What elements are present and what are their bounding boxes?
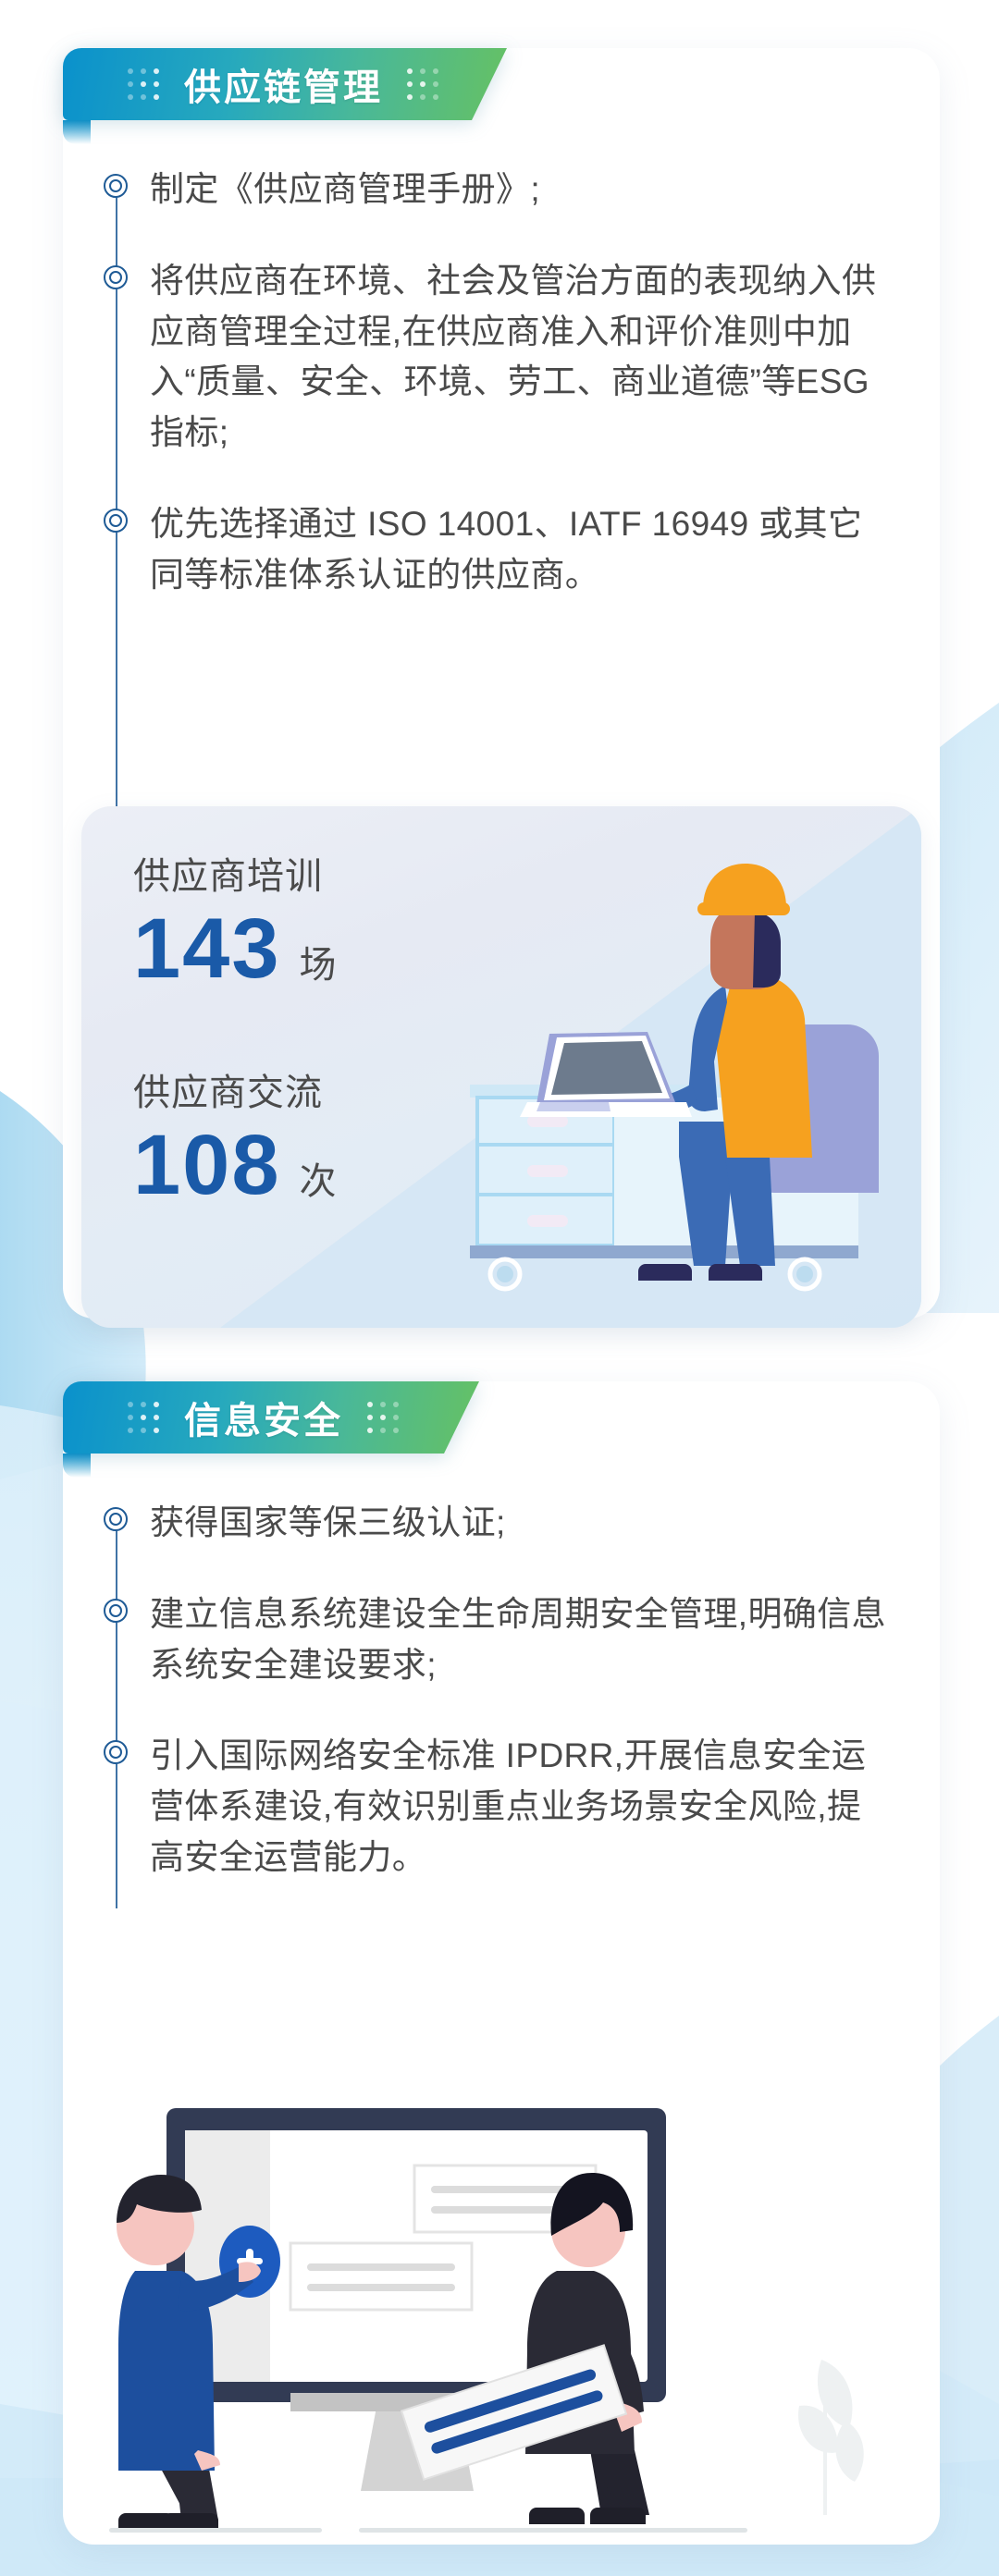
- dot-grid-icon-right: [407, 68, 439, 101]
- list-item: 将供应商在环境、社会及管治方面的表现纳入供应商管理全过程,在供应商准入和评价准则…: [104, 256, 890, 499]
- banner-tail-supply-chain: [63, 120, 91, 144]
- ring-bullet-icon: [104, 174, 129, 200]
- stat-supplier-training: 供应商培训 143 场: [133, 856, 337, 994]
- dot-grid-icon-right: [367, 1402, 400, 1434]
- dot-grid-icon-left: [128, 68, 160, 101]
- section-title-information-security: 信息安全: [184, 1391, 343, 1444]
- list-item-text: 引入国际网络安全标准 IPDRR,开展信息安全运营体系建设,有效识别重点业务场景…: [150, 1731, 890, 1883]
- list-item: 引入国际网络安全标准 IPDRR,开展信息安全运营体系建设,有效识别重点业务场景…: [104, 1731, 890, 1883]
- list-item: 优先选择通过 ISO 14001、IATF 16949 或其它同等标准体系认证的…: [104, 499, 890, 601]
- ring-bullet-icon: [104, 509, 129, 534]
- dot-grid-icon-left: [128, 1402, 160, 1434]
- stat-label: 供应商培训: [133, 856, 337, 897]
- illustration-two-people-monitor: [109, 2101, 906, 2556]
- ring-bullet-icon: [104, 1740, 129, 1766]
- list-item: 获得国家等保三级认证;: [104, 1498, 890, 1589]
- illustration-worker-at-desk: [461, 860, 923, 1313]
- list-item: 建立信息系统建设全生命周期安全管理,明确信息系统安全建设要求;: [104, 1589, 890, 1732]
- ring-bullet-icon: [104, 265, 129, 291]
- section-title-supply-chain: 供应链管理: [184, 57, 383, 111]
- stat-value: 108: [133, 1121, 281, 1210]
- list-item-text: 建立信息系统建设全生命周期安全管理,明确信息系统安全建设要求;: [150, 1589, 890, 1691]
- list-item-text: 优先选择通过 ISO 14001、IATF 16949 或其它同等标准体系认证的…: [150, 499, 890, 601]
- stat-unit: 场: [300, 935, 337, 988]
- monitor-people-svg: [109, 2101, 906, 2556]
- list-item-text: 获得国家等保三级认证;: [150, 1498, 890, 1549]
- list-item-text: 制定《供应商管理手册》;: [150, 165, 890, 215]
- stat-value: 143: [133, 904, 281, 994]
- stat-unit: 次: [300, 1151, 337, 1205]
- section-banner-supply-chain: 供应链管理: [63, 48, 507, 120]
- stat-label: 供应商交流: [133, 1073, 337, 1113]
- list-item-text: 将供应商在环境、社会及管治方面的表现纳入供应商管理全过程,在供应商准入和评价准则…: [150, 256, 890, 459]
- ring-bullet-icon: [104, 1507, 129, 1533]
- bullet-list-information-security: 获得国家等保三级认证; 建立信息系统建设全生命周期安全管理,明确信息系统安全建设…: [104, 1498, 890, 1883]
- bullet-list-supply-chain: 制定《供应商管理手册》; 将供应商在环境、社会及管治方面的表现纳入供应商管理全过…: [104, 165, 890, 600]
- banner-tail-information-security: [63, 1454, 91, 1478]
- worker-desk-svg: [461, 860, 923, 1313]
- list-item: 制定《供应商管理手册》;: [104, 165, 890, 256]
- stat-supplier-exchange: 供应商交流 108 次: [133, 1073, 337, 1210]
- ring-bullet-icon: [104, 1599, 129, 1625]
- section-banner-information-security: 信息安全: [63, 1381, 479, 1454]
